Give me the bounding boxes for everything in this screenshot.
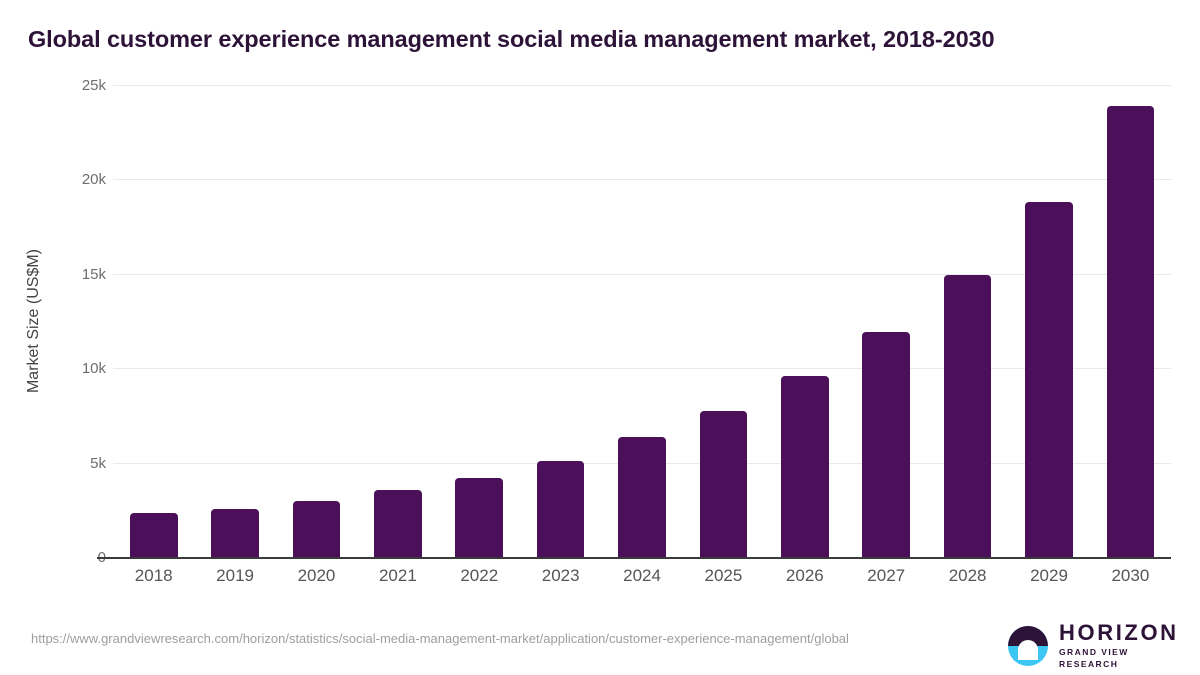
- y-axis-tick-label: 20k: [36, 179, 106, 180]
- y-axis-tick-label: 5k: [36, 463, 106, 464]
- bar-2023[interactable]: [537, 461, 585, 557]
- bar-2027[interactable]: [862, 332, 910, 557]
- y-axis-tick-label: 25k: [36, 85, 106, 86]
- bar-series: [113, 85, 1171, 557]
- bar-slot: [927, 85, 1008, 557]
- x-axis-tick-label: 2024: [601, 566, 682, 586]
- x-axis-tick-label: 2019: [194, 566, 275, 586]
- bar-slot: [357, 85, 438, 557]
- bar-slot: [1008, 85, 1089, 557]
- x-axis-tick-label: 2021: [357, 566, 438, 586]
- bar-2024[interactable]: [618, 437, 666, 557]
- bar-2026[interactable]: [781, 376, 829, 557]
- x-axis-tick-label: 2020: [276, 566, 357, 586]
- footer: https://www.grandviewresearch.com/horizo…: [0, 612, 1200, 675]
- bar-2028[interactable]: [944, 275, 992, 557]
- x-axis-tick-label: 2025: [683, 566, 764, 586]
- horizon-sun-circle-icon: [1008, 626, 1048, 666]
- bar-2022[interactable]: [455, 478, 503, 557]
- source-url[interactable]: https://www.grandviewresearch.com/horizo…: [31, 630, 981, 647]
- x-axis-tick-label: 2022: [439, 566, 520, 586]
- bar-slot: [683, 85, 764, 557]
- bar-2020[interactable]: [293, 501, 341, 557]
- bar-slot: [846, 85, 927, 557]
- x-axis-tick-label: 2018: [113, 566, 194, 586]
- logo-line-upper: [1020, 652, 1036, 654]
- bar-2019[interactable]: [211, 509, 259, 557]
- x-axis-tick-label: 2029: [1008, 566, 1089, 586]
- bar-slot: [276, 85, 357, 557]
- logo-word: HORIZON: [1059, 622, 1179, 644]
- plot-area: Market Size (US$M) 05k10k15k20k25k 20182…: [0, 0, 1200, 675]
- bar-slot: [113, 85, 194, 557]
- logo-subtitle: GRAND VIEW RESEARCH: [1059, 646, 1179, 670]
- bar-slot: [1090, 85, 1171, 557]
- x-axis-tick-label: 2030: [1090, 566, 1171, 586]
- bar-slot: [764, 85, 845, 557]
- y-axis-title: Market Size (US$M): [25, 221, 43, 421]
- bar-slot: [439, 85, 520, 557]
- x-axis-tick-label: 2027: [846, 566, 927, 586]
- logo-line-lower: [1023, 656, 1034, 658]
- brand-logo: HORIZON GRAND VIEW RESEARCH: [1008, 624, 1178, 668]
- x-axis-tick-label: 2028: [927, 566, 1008, 586]
- y-axis-tick-label: 10k: [36, 368, 106, 369]
- bar-2030[interactable]: [1107, 106, 1155, 557]
- x-axis-tick-labels: 2018201920202021202220232024202520262027…: [113, 566, 1171, 586]
- bar-2029[interactable]: [1025, 202, 1073, 557]
- x-axis-tick-label: 2023: [520, 566, 601, 586]
- bar-slot: [194, 85, 275, 557]
- y-axis-tick-label: 0: [36, 557, 106, 558]
- x-axis-baseline: [97, 557, 1171, 559]
- logo-wordmark: HORIZON GRAND VIEW RESEARCH: [1059, 622, 1179, 670]
- bar-2021[interactable]: [374, 490, 422, 557]
- y-axis-tick-label: 15k: [36, 274, 106, 275]
- bar-slot: [601, 85, 682, 557]
- x-axis-tick-label: 2026: [764, 566, 845, 586]
- chart-card: Global customer experience management so…: [0, 0, 1200, 675]
- bar-slot: [520, 85, 601, 557]
- bar-2018[interactable]: [130, 513, 178, 557]
- bar-2025[interactable]: [700, 411, 748, 557]
